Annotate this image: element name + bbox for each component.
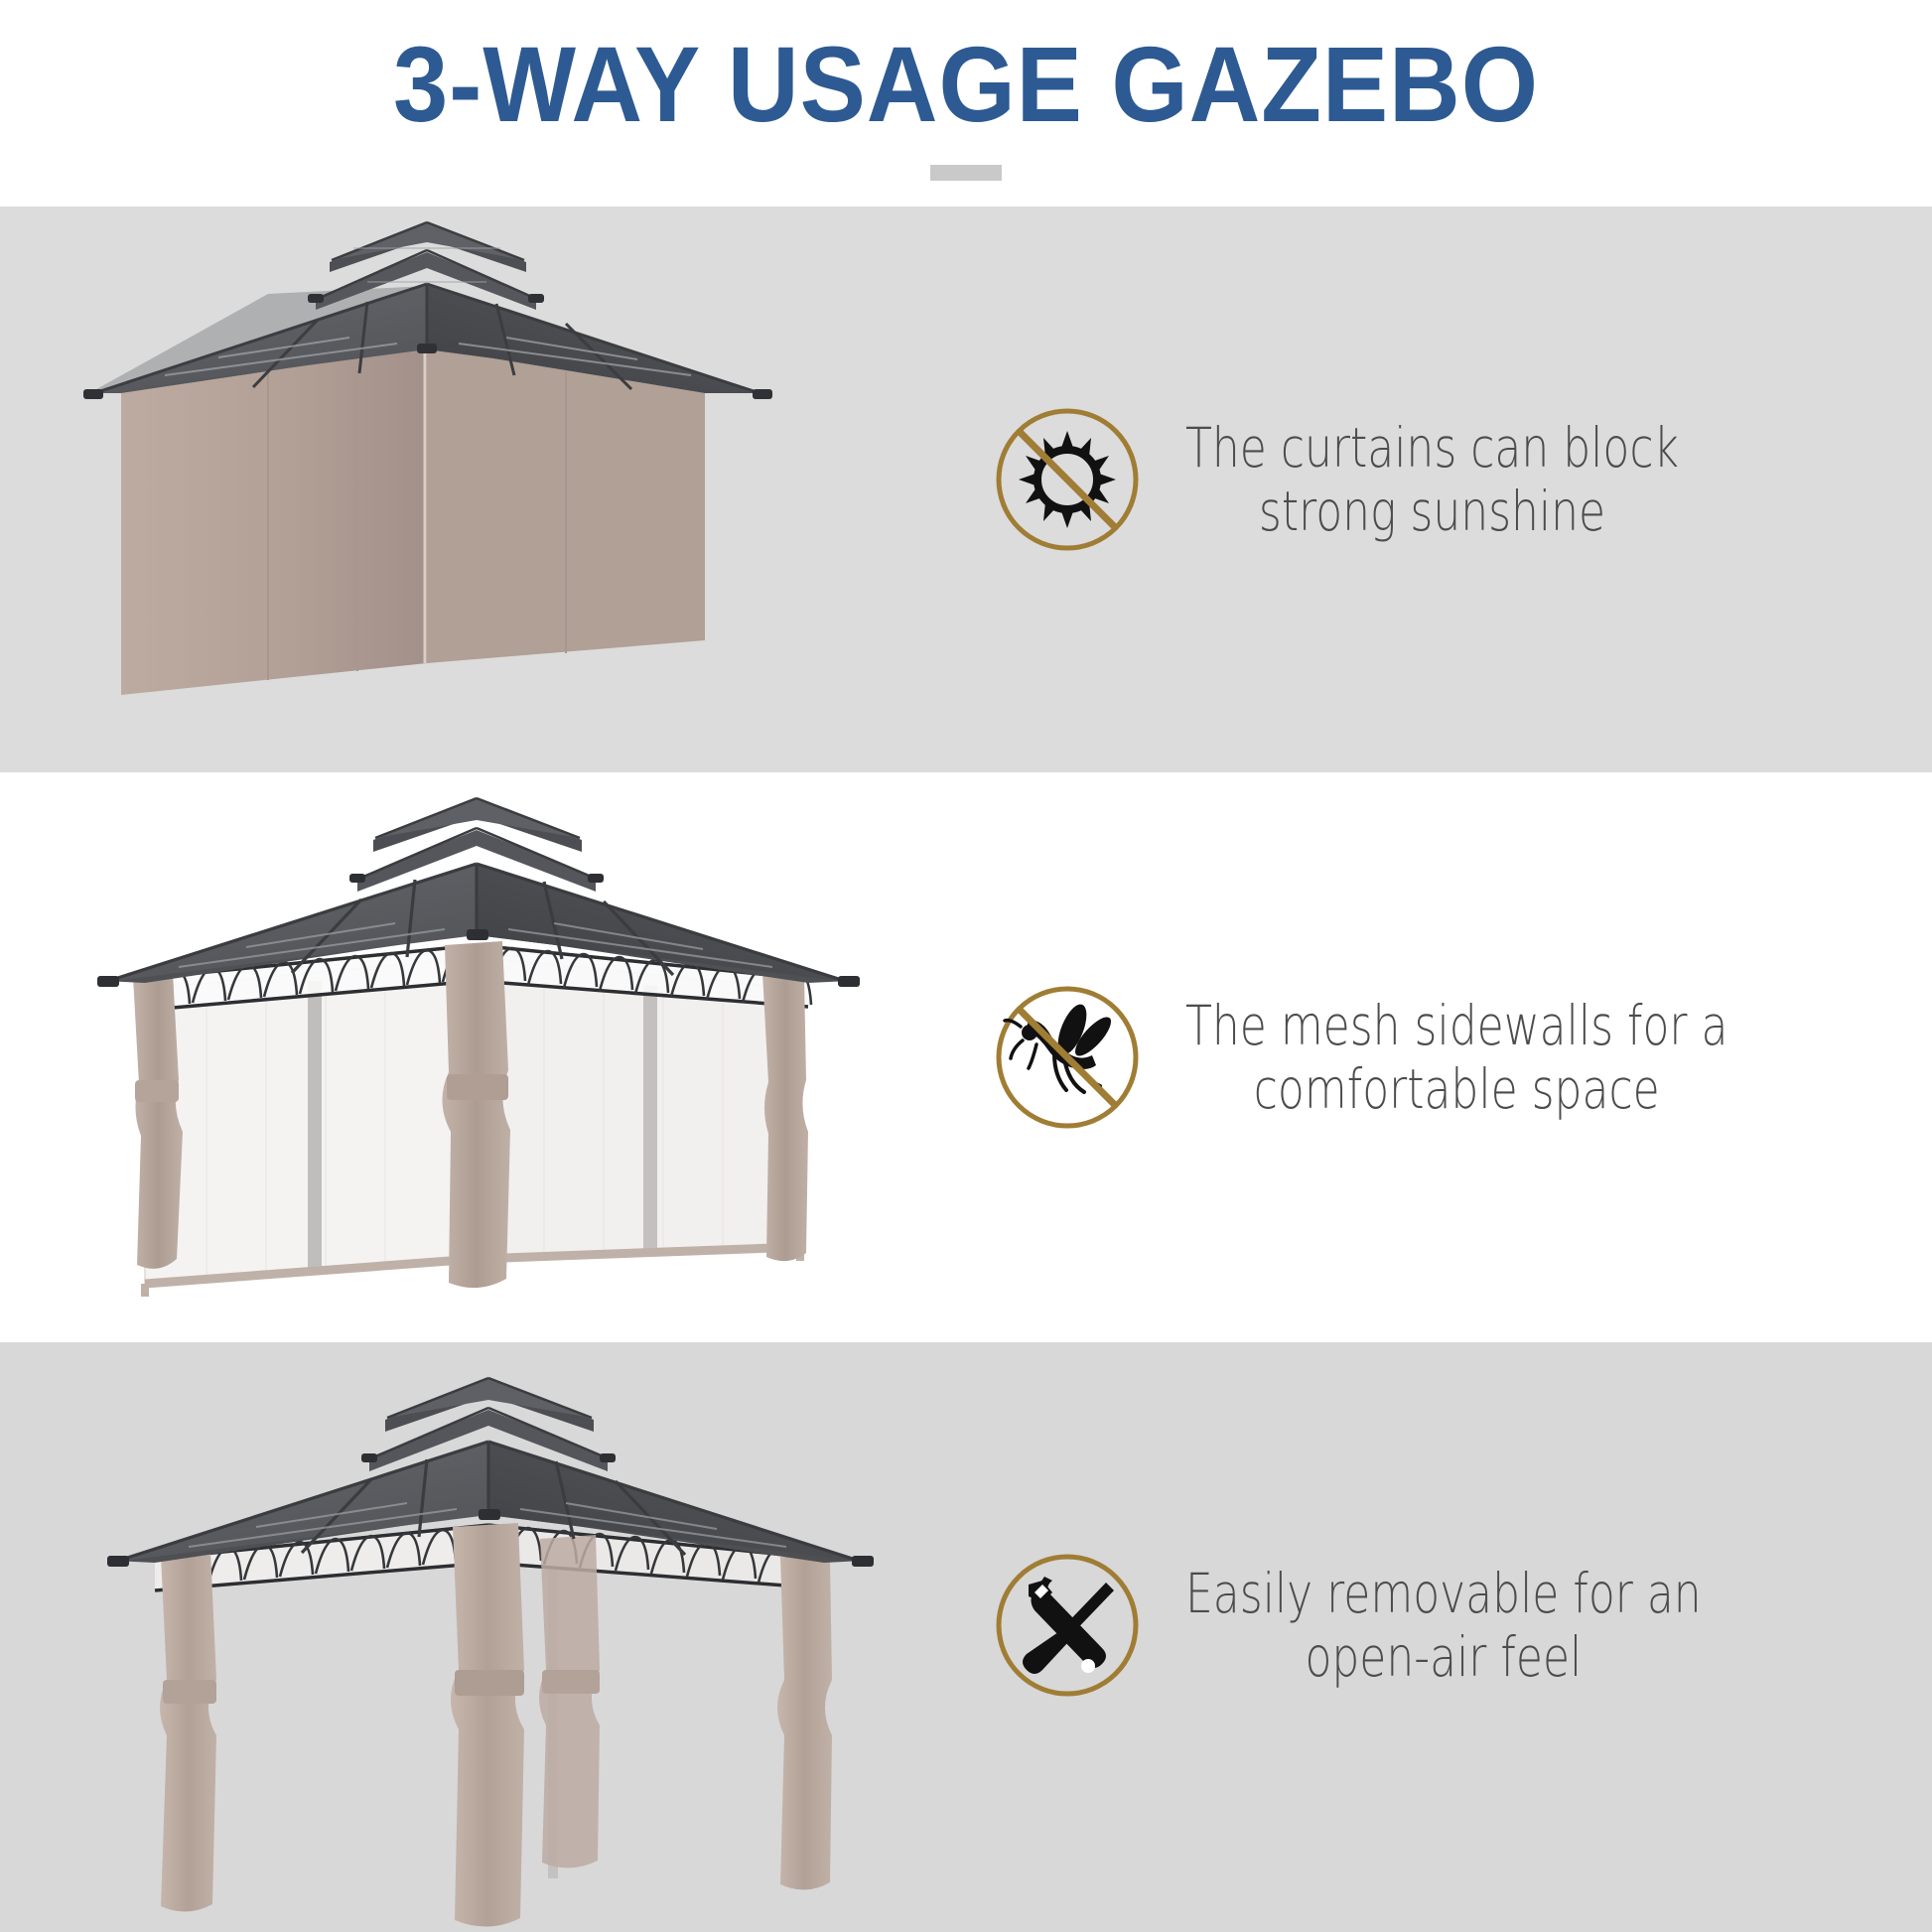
feature-open-air-line2: open-air feel (1185, 1625, 1702, 1689)
feature-mesh-text: The mesh sidewalls for a comfortable spa… (1185, 994, 1727, 1122)
feature-open-air-line1: Easily removable for an (1185, 1562, 1702, 1625)
feature-mesh: The mesh sidewalls for a comfortable spa… (993, 983, 1863, 1132)
gazebo-image-open-air (99, 1352, 884, 1928)
feature-curtains: The curtains can block strong sunshine (993, 405, 1802, 554)
feature-curtains-line1: The curtains can block (1185, 416, 1679, 480)
gazebo-image-mesh (87, 782, 872, 1338)
panel-open-air: Easily removable for an open-air feel (0, 1342, 1932, 1932)
gazebo-image-curtains (69, 207, 824, 772)
header: 3-WAY USAGE GAZEBO (0, 0, 1932, 207)
tools-icon (993, 1551, 1142, 1700)
no-mosquito-icon (993, 983, 1142, 1132)
infographic-page: 3-WAY USAGE GAZEBO (0, 0, 1932, 1932)
feature-open-air-text: Easily removable for an open-air feel (1185, 1562, 1702, 1690)
no-sun-icon (993, 405, 1142, 554)
title-divider (930, 165, 1002, 181)
feature-curtains-text: The curtains can block strong sunshine (1185, 416, 1679, 544)
panel-mesh: The mesh sidewalls for a comfortable spa… (0, 772, 1932, 1342)
feature-mesh-line2: comfortable space (1185, 1057, 1727, 1121)
feature-open-air: Easily removable for an open-air feel (993, 1551, 1831, 1700)
panel-curtains: The curtains can block strong sunshine (0, 207, 1932, 772)
feature-curtains-line2: strong sunshine (1185, 480, 1679, 543)
page-title: 3-WAY USAGE GAZEBO (77, 22, 1855, 146)
feature-mesh-line1: The mesh sidewalls for a (1185, 994, 1727, 1057)
